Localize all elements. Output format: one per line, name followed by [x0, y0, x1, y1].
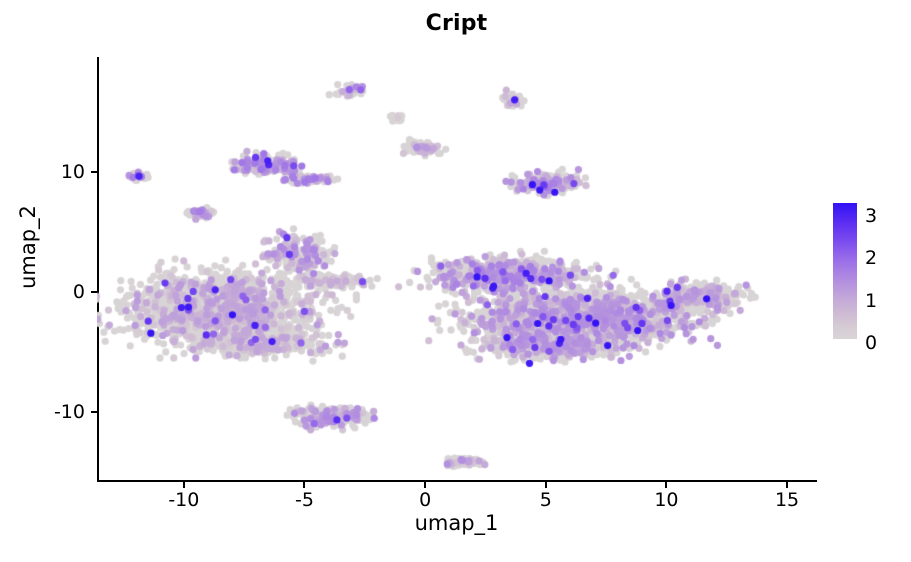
x-tick-label: 10	[654, 489, 678, 511]
x-tick-mark	[665, 482, 667, 488]
plot-area	[97, 57, 816, 481]
x-tick-mark	[545, 482, 547, 488]
scatter-points-layer	[97, 57, 816, 481]
x-tick-label: 0	[419, 489, 431, 511]
colorbar-gradient	[833, 203, 857, 339]
x-tick-label: -10	[168, 489, 199, 511]
x-tick-mark	[786, 482, 788, 488]
page-title: Cript	[97, 11, 816, 36]
x-tick-mark	[183, 482, 185, 488]
x-tick-mark	[303, 482, 305, 488]
y-tick-mark	[91, 171, 97, 173]
y-axis-label: umap_2	[16, 157, 40, 337]
x-tick-mark	[424, 482, 426, 488]
x-tick-label: 5	[540, 489, 552, 511]
x-axis-label: umap_1	[97, 511, 816, 535]
y-tick-label: 0	[73, 281, 85, 303]
colorbar: 3210	[833, 203, 903, 343]
umap-figure: Cript -10-5051015 100-10 umap_1 umap_2 3…	[0, 0, 911, 562]
y-tick-label: -10	[54, 401, 85, 423]
y-tick-label: 10	[61, 161, 85, 183]
colorbar-tick-label: 2	[865, 247, 877, 269]
x-tick-label: -5	[295, 489, 314, 511]
y-tick-mark	[91, 411, 97, 413]
colorbar-tick-label: 0	[865, 332, 877, 354]
colorbar-tick-label: 1	[865, 290, 877, 312]
colorbar-tick-label: 3	[865, 205, 877, 227]
y-tick-mark	[91, 291, 97, 293]
x-tick-label: 15	[775, 489, 799, 511]
